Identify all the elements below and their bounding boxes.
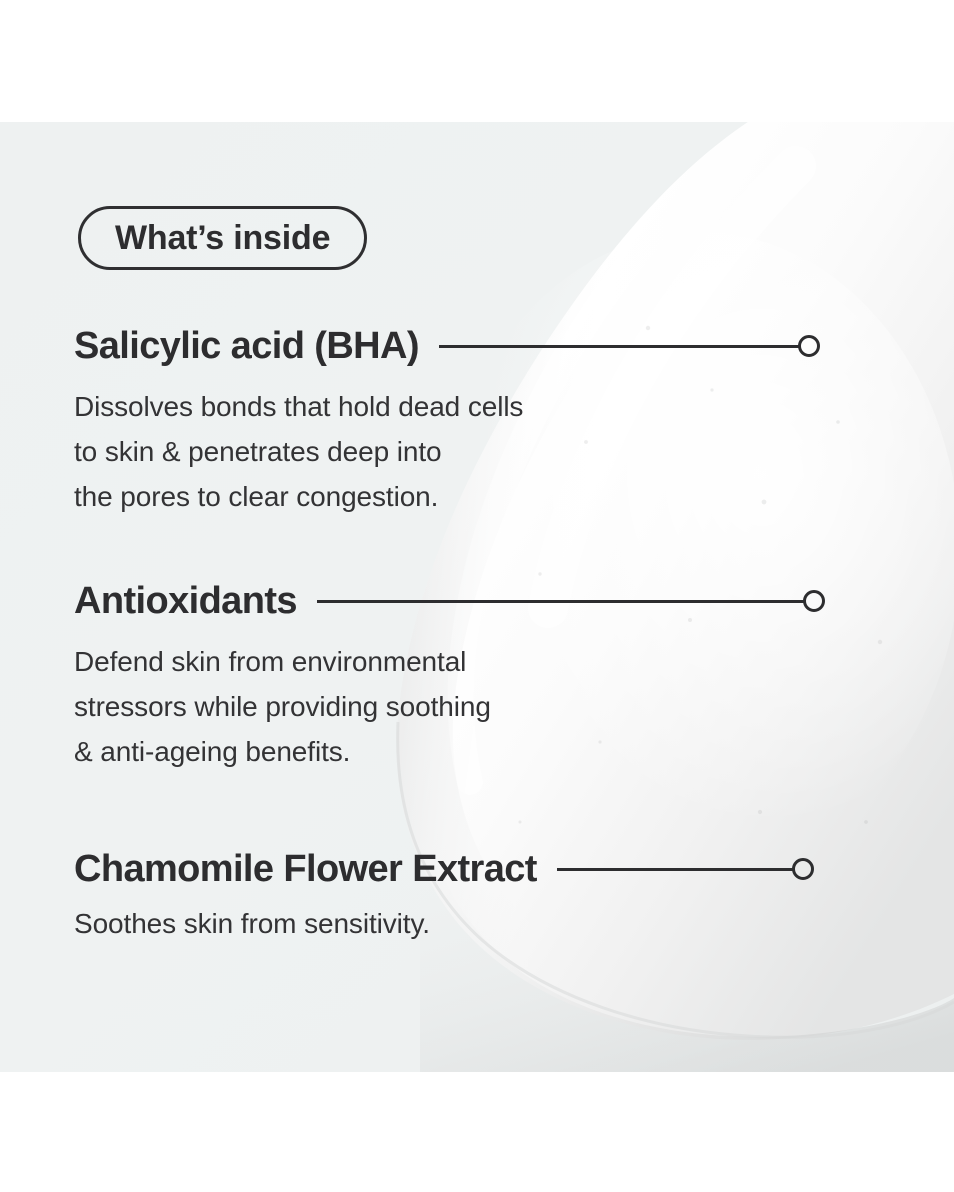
leader-connector <box>317 590 904 612</box>
ingredient-item: Salicylic acid (BHA) Dissolves bonds tha… <box>74 322 904 547</box>
ingredient-item: Chamomile Flower Extract Soothes skin fr… <box>74 845 904 974</box>
leader-connector <box>557 858 904 880</box>
leader-line-icon <box>317 600 805 603</box>
ingredient-heading-row: Salicylic acid (BHA) <box>74 322 904 370</box>
leader-dot-icon <box>792 858 814 880</box>
ingredient-heading-row: Antioxidants <box>74 577 904 625</box>
ingredient-description: Dissolves bonds that hold dead cells to … <box>74 384 714 519</box>
leader-line-icon <box>439 345 800 348</box>
leader-line-icon <box>557 868 794 871</box>
ingredient-description: Soothes skin from sensitivity. <box>74 901 714 946</box>
leader-dot-icon <box>803 590 825 612</box>
ingredient-name: Chamomile Flower Extract <box>74 850 537 888</box>
product-ingredients-graphic: What’s inside Salicylic acid (BHA) Disso… <box>0 0 954 1192</box>
content-layer: What’s inside Salicylic acid (BHA) Disso… <box>0 122 954 1072</box>
ingredient-description: Defend skin from environmental stressors… <box>74 639 714 774</box>
ingredient-name: Salicylic acid (BHA) <box>74 327 419 365</box>
ingredient-heading-row: Chamomile Flower Extract <box>74 845 904 893</box>
whats-inside-label: What’s inside <box>115 221 330 255</box>
ingredient-item: Antioxidants Defend skin from environmen… <box>74 577 904 802</box>
whats-inside-badge: What’s inside <box>78 206 367 270</box>
ingredient-name: Antioxidants <box>74 582 297 620</box>
leader-connector <box>439 335 904 357</box>
leader-dot-icon <box>798 335 820 357</box>
